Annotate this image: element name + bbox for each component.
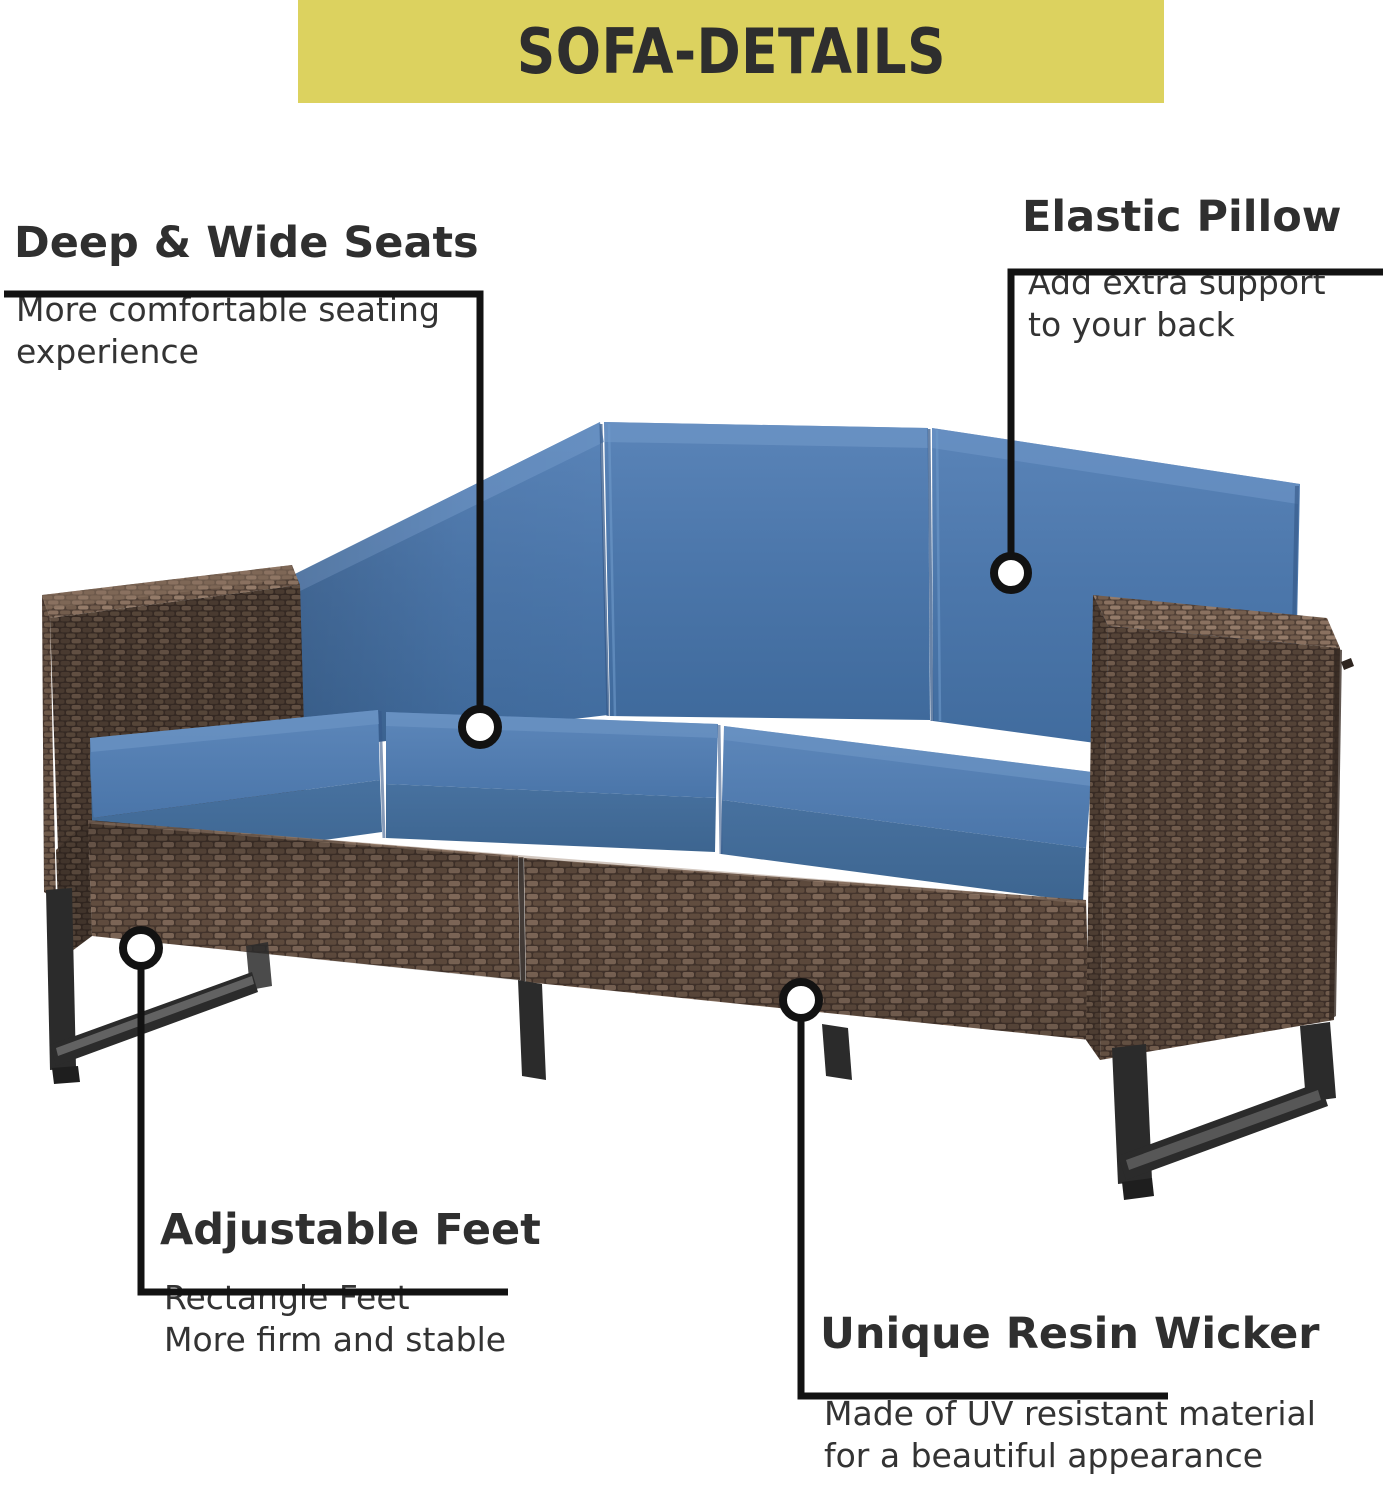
callout-heading: Deep & Wide Seats [14, 222, 479, 266]
callout-body: More comfortable seating experience [16, 289, 479, 373]
callout-deep-wide-seats: Deep & Wide Seats More comfortable seati… [8, 222, 479, 373]
callout-body: Rectangle Feet More firm and stable [164, 1277, 541, 1361]
right-armrest [1086, 595, 1354, 1060]
page-title: SOFA-DETAILS [516, 15, 945, 88]
callout-elastic-pillow: Elastic Pillow Add extra support to your… [1022, 196, 1341, 346]
callout-body: Made of UV resistant material for a beau… [824, 1393, 1319, 1477]
callout-heading: Adjustable Feet [160, 1209, 541, 1253]
sofa-product-image [0, 380, 1387, 1200]
callout-body: Add extra support to your back [1028, 262, 1341, 346]
callout-unique-resin-wicker: Unique Resin Wicker Made of UV resistant… [820, 1313, 1319, 1477]
title-banner: SOFA-DETAILS [298, 0, 1164, 103]
callout-heading: Elastic Pillow [1022, 196, 1341, 240]
callout-heading: Unique Resin Wicker [820, 1313, 1319, 1357]
callout-adjustable-feet: Adjustable Feet Rectangle Feet More firm… [160, 1209, 541, 1361]
